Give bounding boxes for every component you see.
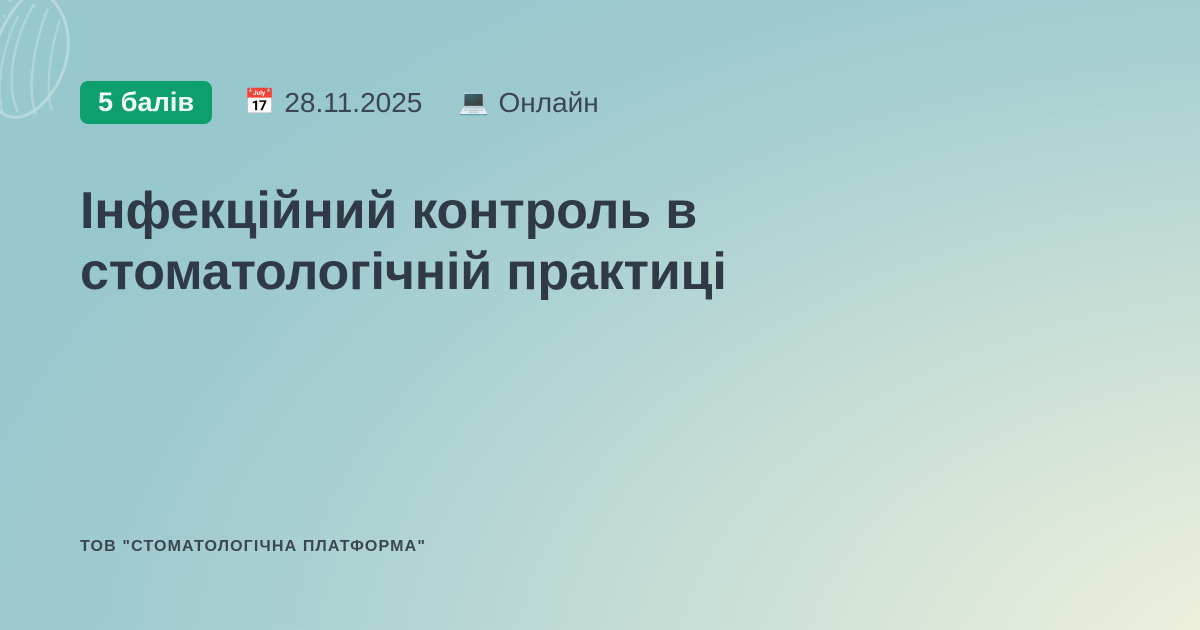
organization-name: ТОВ "СТОМАТОЛОГІЧНА ПЛАТФОРМА" [80,539,426,555]
meta-row: 5 балів 📅 28.11.2025 💻 Онлайн [80,81,1120,124]
event-date-value: 28.11.2025 [284,89,422,117]
event-format-value: Онлайн [499,89,599,117]
laptop-icon: 💻 [458,90,489,115]
banner-content: 5 балів 📅 28.11.2025 💻 Онлайн Інфекційни… [0,0,1200,630]
event-title: Інфекційний контроль в стоматологічній п… [80,124,880,304]
event-date: 📅 28.11.2025 [244,89,422,117]
event-format: 💻 Онлайн [458,89,598,117]
points-badge: 5 балів [80,81,212,124]
calendar-icon: 📅 [244,90,275,115]
event-banner: 5 балів 📅 28.11.2025 💻 Онлайн Інфекційни… [0,0,1200,630]
